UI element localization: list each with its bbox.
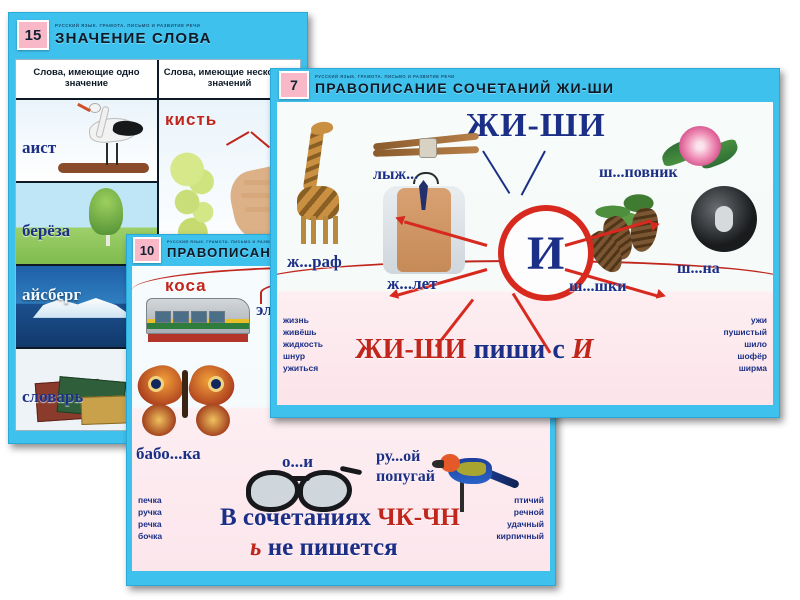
rule-text-v-sochetaniyah: В сочетаниях (220, 504, 371, 531)
poster-10-left-word-list: печка ручка речка бочка (138, 494, 162, 542)
label-shishki: ш...шки (569, 278, 626, 296)
butterfly-picture (138, 358, 234, 436)
poster-7-header-texts: РУССКИЙ ЯЗЫК. ГРАМОТА. ПИСЬМО И РАЗВИТИЕ… (315, 75, 614, 95)
poster-10-number-badge: 10 (133, 237, 161, 263)
word-rechnoy: речной (496, 506, 544, 518)
word-shilo: шило (723, 338, 767, 350)
poster-15-title: ЗНАЧЕНИЕ СЛОВА (55, 31, 212, 46)
electric-train-picture (146, 292, 250, 350)
poster-15-header-texts: РУССКИЙ ЯЗЫК. ГРАМОТА. ПИСЬМО И РАЗВИТИЕ… (55, 24, 212, 45)
rule-text-soft-sign: ь (250, 534, 261, 561)
word-shofer: шофёр (723, 350, 767, 362)
poster-10-rule-line-2: ь не пишется (250, 534, 398, 562)
rule-text-chk-chn: ЧК-ЧН (377, 504, 460, 531)
poster-7-right-word-list: ужи пушистый шило шофёр ширма (723, 314, 767, 374)
column-header-one-meaning: Слова, имеющие одно значение (16, 60, 157, 98)
word-zhidkost: жидкость (283, 338, 323, 350)
label-ochki: о...и (282, 452, 313, 472)
word-pechka: печка (138, 494, 162, 506)
word-zhizn: жизнь (283, 314, 323, 326)
poster-10-right-word-list: птичий речной удачный кирпичный (496, 494, 544, 542)
poster-15-header: 15 РУССКИЙ ЯЗЫК. ГРАМОТА. ПИСЬМО И РАЗВИ… (9, 13, 307, 57)
word-shnur: шнур (283, 350, 323, 362)
poster-7-subtitle: РУССКИЙ ЯЗЫК. ГРАМОТА. ПИСЬМО И РАЗВИТИЕ… (315, 75, 614, 79)
word-uzhi: ужи (723, 314, 767, 326)
label-zhiraf: ж...раф (287, 252, 342, 272)
cell-word-kosa: коса (165, 276, 207, 296)
word-kirpichnyy: кирпичный (496, 530, 544, 542)
word-pushistyy: пушистый (723, 326, 767, 338)
rule-text-letter-i: И (572, 334, 594, 365)
word-zhivesh: живёшь (283, 326, 323, 338)
poster-7-inner: 7 РУССКИЙ ЯЗЫК. ГРАМОТА. ПИСЬМО И РАЗВИТ… (271, 69, 779, 417)
poster-7-zhi-shi[interactable]: 7 РУССКИЙ ЯЗЫК. ГРАМОТА. ПИСЬМО И РАЗВИТ… (270, 68, 780, 418)
center-letter-i: И (527, 226, 564, 281)
poster-7-title: ПРАВОПИСАНИЕ СОЧЕТАНИЙ ЖИ-ШИ (315, 81, 614, 95)
label-babochka: бабо...ка (136, 444, 201, 464)
poster-7-left-word-list: жизнь живёшь жидкость шнур ужиться (283, 314, 323, 374)
word-udachnyy: удачный (496, 518, 544, 530)
cell-word-aysberg: айсберг (22, 285, 81, 305)
poster-7-rule-line: ЖИ-ШИ пиши с И (355, 334, 594, 366)
poster-scene: 15 РУССКИЙ ЯЗЫК. ГРАМОТА. ПИСЬМО И РАЗВИ… (0, 0, 800, 600)
poster-7-headline: ЖИ-ШИ (465, 107, 605, 145)
poster-10-rule-line-1: В сочетаниях ЧК-ЧН (220, 504, 460, 532)
blue-arrow-left (482, 150, 510, 193)
rule-text-ne-pishetsya: не пишется (268, 534, 398, 561)
cell-word-bereza: берёза (22, 221, 70, 241)
poster-15-subtitle: РУССКИЙ ЯЗЫК. ГРАМОТА. ПИСЬМО И РАЗВИТИЕ… (55, 24, 212, 28)
word-ptichiy: птичий (496, 494, 544, 506)
label-ruchnoy: ру...ой (376, 448, 420, 466)
cell-word-slovar: словарь (22, 387, 83, 407)
poster-7-sheet: ЖИ-ШИ (277, 102, 773, 405)
skis-picture (373, 136, 483, 162)
label-shina: ш...на (677, 260, 720, 278)
word-ruchka: ручка (138, 506, 162, 518)
label-shipovnik: ш...повник (599, 164, 678, 182)
poster-7-header: 7 РУССКИЙ ЯЗЫК. ГРАМОТА. ПИСЬМО И РАЗВИТ… (271, 69, 779, 101)
label-lyzh: лыж... (373, 166, 418, 184)
word-bochka: бочка (138, 530, 162, 542)
word-shirma: ширма (723, 362, 767, 374)
cell-word-aist: аист (22, 138, 56, 158)
poster-15-table-header: Слова, имеющие одно значение Слова, имею… (16, 60, 300, 100)
rule-text-pishi-s: пиши с (473, 334, 564, 365)
cell-word-kist: кисть (165, 110, 217, 130)
word-rechka: речка (138, 518, 162, 530)
poster-15-number-badge: 15 (17, 20, 49, 50)
label-popugay: попугай (376, 468, 435, 486)
blue-arrow-right (521, 151, 546, 196)
label-zhilet: ж...лет (387, 274, 438, 294)
table-cell-stork: аист (16, 100, 157, 181)
word-uzhitsya: ужиться (283, 362, 323, 374)
poster-7-number-badge: 7 (279, 71, 309, 99)
giraffe-picture (291, 128, 345, 248)
rule-text-zhi-shi: ЖИ-ШИ (355, 334, 466, 365)
